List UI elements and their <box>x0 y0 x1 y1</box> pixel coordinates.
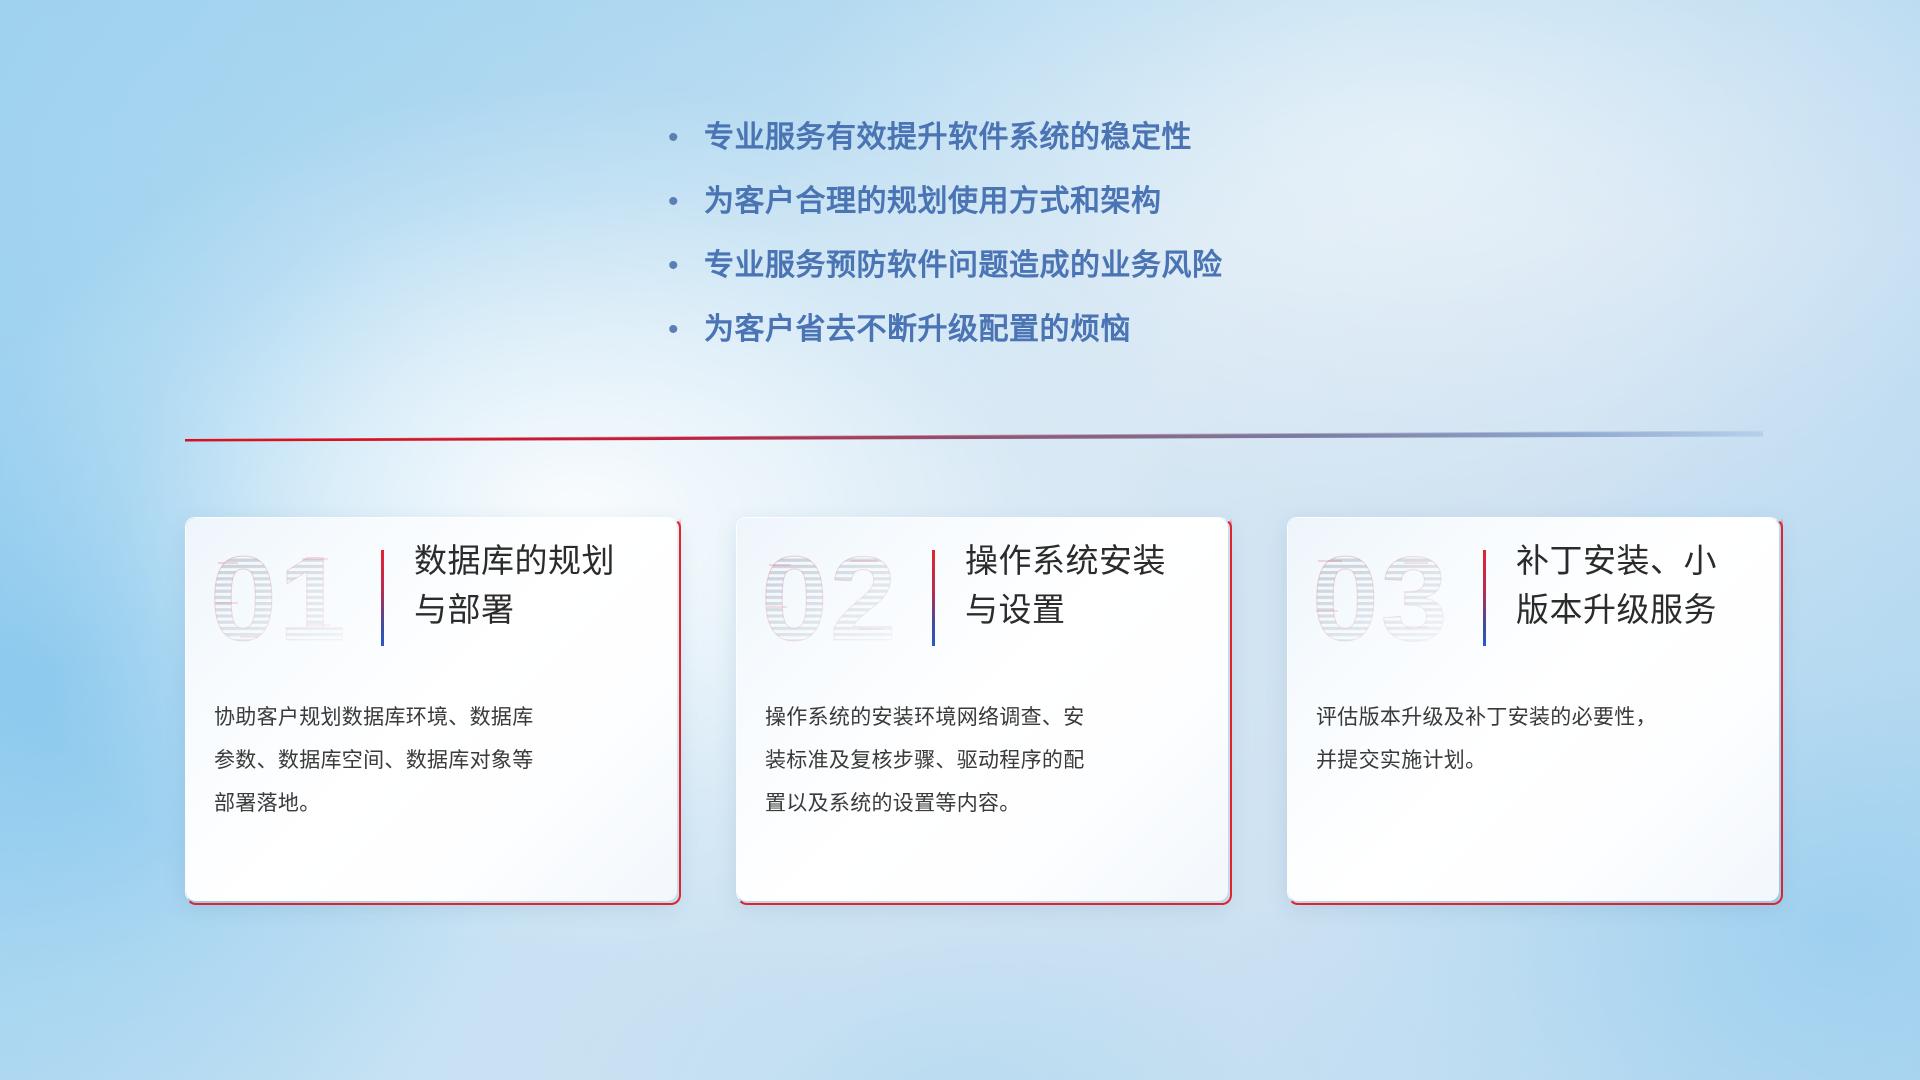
card-title: 操作系统安装 与设置 <box>965 536 1215 634</box>
section-divider <box>185 428 1763 442</box>
bullet-text: 专业服务预防软件问题造成的业务风险 <box>704 240 1223 284</box>
card-description-line1: 协助客户规划数据库环境、数据库 <box>214 696 652 739</box>
card-number-watermark: 03 <box>1312 540 1462 658</box>
card-title: 补丁安装、小 版本升级服务 <box>1516 536 1766 634</box>
bullet-dot-icon: • <box>660 251 704 281</box>
bullet-dot-icon: • <box>660 315 704 345</box>
card-title: 数据库的规划 与部署 <box>414 536 664 634</box>
card-title-line2: 与部署 <box>414 585 664 634</box>
bullet-text: 为客户合理的规划使用方式和架构 <box>704 176 1162 220</box>
bullet-text: 为客户省去不断升级配置的烦恼 <box>704 304 1131 348</box>
card-title-accent-bar <box>932 550 935 646</box>
card-title-line1: 补丁安装、小 <box>1516 536 1766 585</box>
list-item: • 专业服务有效提升软件系统的稳定性 <box>660 112 1223 176</box>
card-description-line2: 并提交实施计划。 <box>1316 739 1754 782</box>
bullet-dot-icon: • <box>660 187 704 217</box>
card-description-line2: 参数、数据库空间、数据库对象等 <box>214 739 652 782</box>
card-title-accent-bar <box>381 550 384 646</box>
benefits-bullet-list: • 专业服务有效提升软件系统的稳定性 • 为客户合理的规划使用方式和架构 • 专… <box>660 112 1223 368</box>
bullet-dot-icon: • <box>660 123 704 153</box>
card-title-accent-bar <box>1483 550 1486 646</box>
service-card-row: 01 <box>186 518 1779 901</box>
card-number-watermark: 01 <box>210 540 360 658</box>
card-title-line2: 与设置 <box>965 585 1215 634</box>
card-title-line1: 操作系统安装 <box>965 536 1215 585</box>
card-description-line1: 操作系统的安装环境网络调查、安 <box>765 696 1203 739</box>
service-card[interactable]: 02 操作系统安装 <box>737 518 1228 901</box>
service-card[interactable]: 03 补丁安装、小 <box>1288 518 1779 901</box>
tapered-rule-icon <box>185 428 1763 442</box>
card-description: 协助客户规划数据库环境、数据库 参数、数据库空间、数据库对象等 部署落地。 <box>214 696 652 825</box>
card-title-line1: 数据库的规划 <box>414 536 664 585</box>
striped-number-icon: 01 <box>210 540 360 658</box>
list-item: • 为客户合理的规划使用方式和架构 <box>660 176 1223 240</box>
list-item: • 为客户省去不断升级配置的烦恼 <box>660 304 1223 368</box>
card-number-watermark: 02 <box>761 540 911 658</box>
card-description: 评估版本升级及补丁安装的必要性， 并提交实施计划。 <box>1316 696 1754 782</box>
service-card[interactable]: 01 <box>186 518 677 901</box>
card-description-line2: 装标准及复核步骤、驱动程序的配 <box>765 739 1203 782</box>
striped-number-icon: 02 <box>761 540 911 658</box>
striped-number-icon: 03 <box>1312 540 1462 658</box>
card-description-line3: 部署落地。 <box>214 782 652 825</box>
bullet-text: 专业服务有效提升软件系统的稳定性 <box>704 112 1192 156</box>
card-description: 操作系统的安装环境网络调查、安 装标准及复核步骤、驱动程序的配 置以及系统的设置… <box>765 696 1203 825</box>
card-header: 02 操作系统安装 <box>737 536 1228 666</box>
card-header: 01 <box>186 536 677 666</box>
card-description-line1: 评估版本升级及补丁安装的必要性， <box>1316 696 1754 739</box>
list-item: • 专业服务预防软件问题造成的业务风险 <box>660 240 1223 304</box>
card-header: 03 补丁安装、小 <box>1288 536 1779 666</box>
card-title-line2: 版本升级服务 <box>1516 585 1766 634</box>
card-description-line3: 置以及系统的设置等内容。 <box>765 782 1203 825</box>
